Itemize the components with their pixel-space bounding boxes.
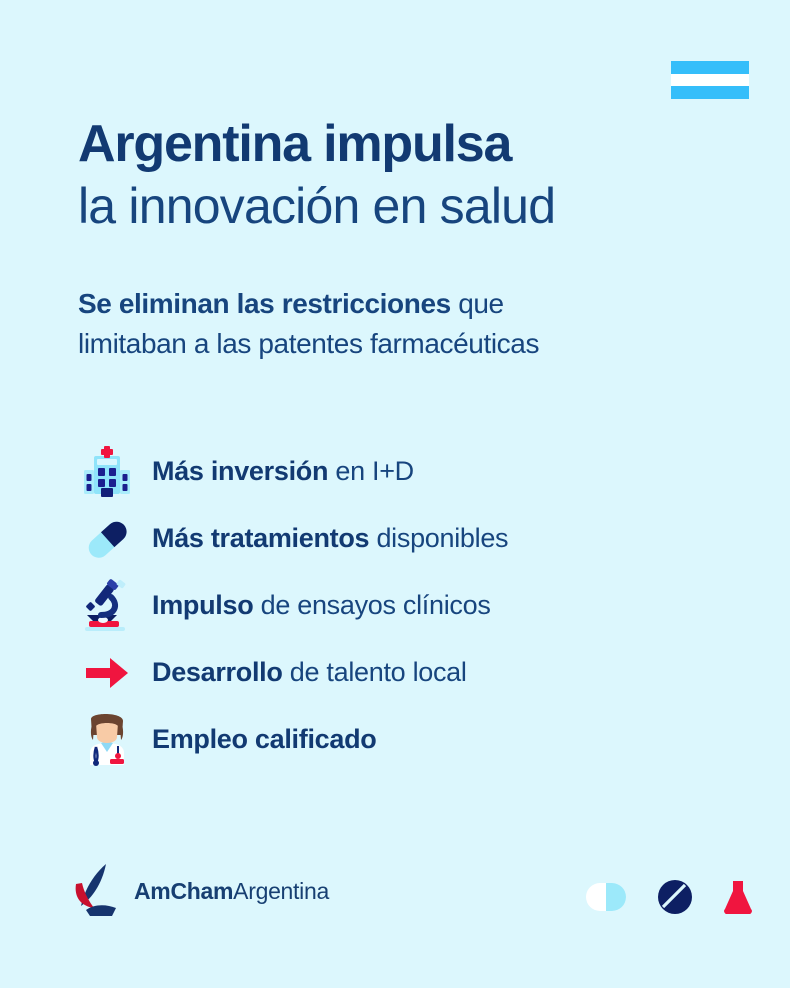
list-item: Desarrollo de talento local <box>78 639 718 706</box>
list-item-label-rest: disponibles <box>369 523 508 553</box>
subtitle-line-1: Se eliminan las restricciones que <box>78 284 698 324</box>
capsule-pill-icon <box>78 510 136 568</box>
subtitle-rest: que <box>451 288 504 319</box>
amcham-wordmark: AmChamArgentina <box>134 878 329 905</box>
footer-decoration-icons <box>586 880 752 919</box>
list-item-label-rest: de talento local <box>283 657 467 687</box>
flag-stripe-bottom <box>671 86 749 99</box>
list-item-label: Más tratamientos disponibles <box>152 523 508 554</box>
headline-block: Argentina impulsa la innovación en salud <box>78 118 718 237</box>
list-item-label: Empleo calificado <box>152 724 376 755</box>
list-item-label: Impulso de ensayos clínicos <box>152 590 491 621</box>
flag-stripe-top <box>671 61 749 74</box>
flask-icon <box>724 880 752 919</box>
doctor-icon <box>78 711 136 769</box>
list-item-label-bold: Más inversión <box>152 456 328 486</box>
list-item-label-rest: en I+D <box>328 456 414 486</box>
list-item-label-bold: Empleo calificado <box>152 724 376 754</box>
poster-canvas: Argentina impulsa la innovación en salud… <box>0 0 790 988</box>
list-item: Empleo calificado <box>78 706 718 773</box>
list-item-label: Desarrollo de talento local <box>152 657 467 688</box>
argentina-flag <box>671 61 749 99</box>
list-item: Más tratamientos disponibles <box>78 505 718 572</box>
list-item: Impulso de ensayos clínicos <box>78 572 718 639</box>
arrow-right-icon <box>78 644 136 702</box>
half-filled-pill-icon <box>586 883 626 916</box>
list-item-label: Más inversión en I+D <box>152 456 414 487</box>
subtitle-bold: Se eliminan las restricciones <box>78 288 451 319</box>
list-item-label-bold: Más tratamientos <box>152 523 369 553</box>
wordmark-regular: Argentina <box>233 878 329 904</box>
wordmark-bold: AmCham <box>134 878 233 904</box>
hospital-icon <box>78 443 136 501</box>
benefits-list: Más inversión en I+D Más tratamientos di… <box>78 438 718 773</box>
list-item-label-rest: de ensayos clínicos <box>253 590 490 620</box>
subtitle-block: Se eliminan las restricciones que limita… <box>78 284 698 364</box>
amcham-logo: AmChamArgentina <box>72 862 329 920</box>
round-pill-icon <box>658 880 692 919</box>
list-item: Más inversión en I+D <box>78 438 718 505</box>
list-item-label-bold: Desarrollo <box>152 657 283 687</box>
subtitle-line-2: limitaban a las patentes farmacéuticas <box>78 324 698 364</box>
headline-line-1: Argentina impulsa <box>78 118 718 170</box>
headline-line-2: la innovación en salud <box>78 176 718 237</box>
list-item-label-bold: Impulso <box>152 590 253 620</box>
microscope-icon <box>78 577 136 635</box>
flag-stripe-middle <box>671 74 749 87</box>
amcham-sail-logo <box>72 862 128 920</box>
